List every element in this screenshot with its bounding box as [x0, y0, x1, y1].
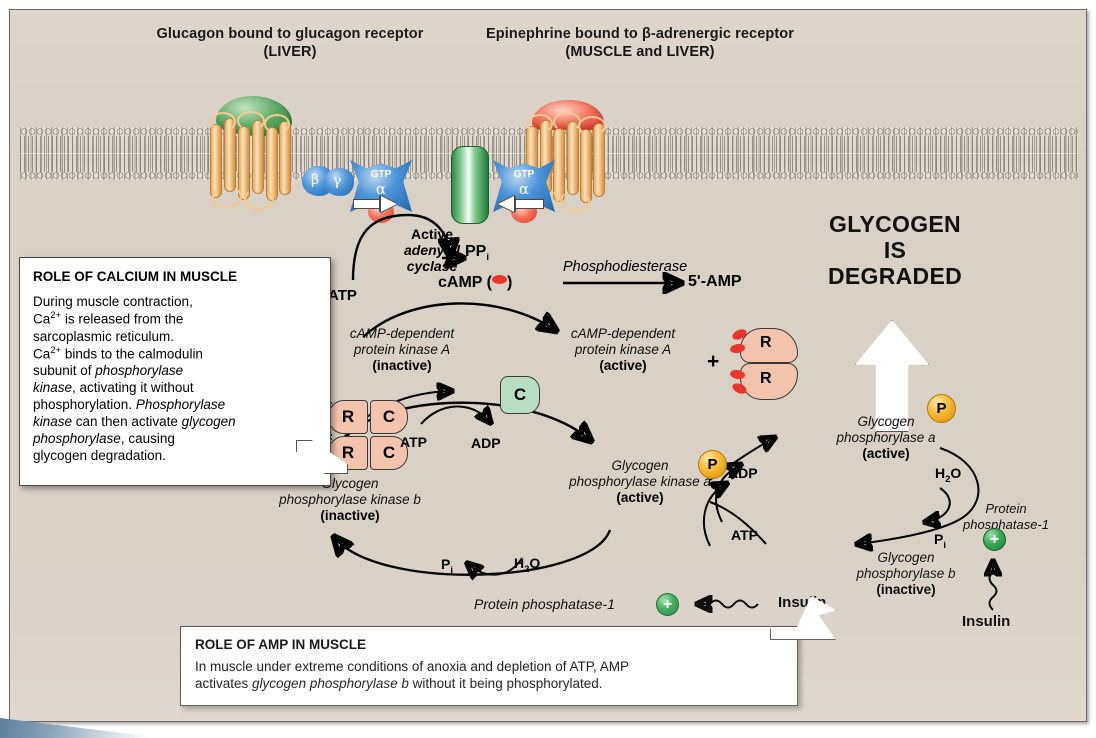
header-epinephrine-line1: Epinephrine bound to β-adrenergic recept… — [430, 26, 850, 44]
kinase-a-line3: (active) — [540, 490, 740, 505]
title-line1: GLYCOGEN — [780, 212, 1010, 238]
pi-subscript: i — [450, 565, 453, 576]
receptor-helix — [567, 121, 579, 195]
glycogen-phosphorylase-a-label: Glycogen phosphorylase a (active) — [796, 414, 976, 461]
g-gamma-label: γ — [333, 173, 341, 189]
adp-label-kinase-cycle: ADP — [471, 435, 501, 451]
protein-phosphatase-1-kinase-cycle: Protein phosphatase-1 — [474, 596, 615, 612]
pka-inactive-line3: (inactive) — [322, 358, 482, 373]
kinase-b-line3: (inactive) — [255, 508, 445, 523]
callout-line: phosphorylase, causing — [33, 430, 318, 447]
h2o-h: H — [514, 555, 524, 571]
receptor-loop — [578, 116, 606, 136]
pp1-line2: phosphatase-1 — [948, 517, 1064, 533]
pka-inactive-label: cAMP-dependent protein kinase A (inactiv… — [322, 326, 482, 373]
callout-calcium: ROLE OF CALCIUM IN MUSCLE During muscle … — [19, 257, 331, 486]
pka-r-subunit: R — [328, 400, 368, 434]
cyclase-label-line1: Active — [390, 226, 474, 242]
receptor-loop — [210, 112, 236, 132]
phosphodiesterase-label: Phosphodiesterase — [563, 259, 687, 275]
callout-line: subunit of phosphorylase — [33, 362, 318, 379]
protein-phosphatase-1-phosphorylase-cycle: Protein phosphatase-1 — [948, 501, 1064, 532]
pka-c-subunit-free: C — [500, 376, 540, 414]
phos-a-line3: (active) — [796, 446, 976, 461]
receptor-loop — [264, 114, 290, 134]
receptor-loop — [560, 190, 590, 212]
insulin-label-phosphorylase-cycle: Insulin — [962, 613, 1010, 630]
camp-text: cAMP ( — [438, 274, 492, 291]
glycogen-phosphorylase-b-label: Glycogen phosphorylase b (inactive) — [816, 550, 996, 597]
amp-label: 5'-AMP — [688, 273, 742, 291]
pka-plus-sign: + — [707, 350, 719, 374]
callout-amp: ROLE OF AMP IN MUSCLE In muscle under ex… — [180, 626, 798, 706]
pka-inactive-line2: protein kinase A — [322, 342, 482, 358]
callout-calcium-body: During muscle contraction, Ca2+ is relea… — [33, 293, 318, 464]
atp-label-cyclase: ATP — [328, 287, 357, 304]
pi-text: P — [934, 531, 943, 547]
gtp-label: GTP — [504, 169, 544, 180]
gtp-label: GTP — [361, 169, 401, 180]
pka-inactive-line1: cAMP-dependent — [322, 326, 482, 342]
callout-amp-pointer — [770, 596, 836, 642]
activation-arrow-left — [353, 196, 399, 212]
phos-b-line1: Glycogen — [816, 550, 996, 566]
title-line3: DEGRADED — [780, 264, 1010, 290]
phosphate-badge-kinase: P — [698, 450, 727, 479]
g-beta-label: β — [311, 172, 319, 188]
callout-amp-title: ROLE OF AMP IN MUSCLE — [195, 637, 783, 652]
callout-calcium-pointer — [296, 440, 366, 496]
ppi-label: PPi — [465, 243, 489, 263]
adenylyl-cyclase-label: Active adenylyl cyclase — [390, 226, 474, 274]
pi-text: P — [441, 556, 450, 572]
callout-line: In muscle under extreme conditions of an… — [195, 658, 783, 675]
activation-arrow-right — [498, 196, 544, 212]
callout-line: kinase can then activate glycogen — [33, 413, 318, 430]
h2o-o: O — [950, 465, 961, 481]
callout-amp-body: In muscle under extreme conditions of an… — [195, 658, 783, 692]
callout-line: During muscle contraction, — [33, 293, 318, 310]
phosphate-badge-phosphorylase: P — [927, 394, 956, 423]
receptor-loop — [527, 114, 553, 134]
header-epinephrine-line2: (MUSCLE and LIVER) — [430, 44, 850, 62]
cyclase-label-line2: adenylyl — [390, 242, 474, 258]
pi-subscript: i — [943, 540, 946, 551]
diagram-panel: Glucagon bound to glucagon receptor (LIV… — [9, 9, 1087, 722]
figure-canvas: Glucagon bound to glucagon receptor (LIV… — [0, 0, 1096, 738]
pka-active-line2: protein kinase A — [538, 342, 708, 358]
pka-active-line3: (active) — [538, 358, 708, 373]
pi-label-phosphorylase-cycle: Pi — [934, 531, 946, 551]
activator-badge-phosphorylase-cycle: + — [983, 528, 1006, 551]
phos-b-line2: phosphorylase b — [816, 566, 996, 582]
receptor-loop — [244, 188, 274, 210]
camp-close: ) — [507, 274, 512, 291]
adp-label-phosphorylase-cycle: ADP — [728, 465, 758, 481]
activator-badge-kinase-cycle: + — [656, 593, 679, 616]
receptor-loop — [212, 186, 242, 208]
phos-a-line2: phosphorylase a — [796, 430, 976, 446]
ppi-subscript: i — [486, 252, 489, 263]
phos-b-line3: (inactive) — [816, 582, 996, 597]
callout-line: sarcoplasmic reticulum. — [33, 328, 318, 345]
h2o-o: O — [529, 555, 540, 571]
callout-line: activates glycogen phosphorylase b witho… — [195, 675, 783, 692]
pka-r-label: R — [760, 334, 772, 352]
header-epinephrine: Epinephrine bound to β-adrenergic recept… — [430, 26, 850, 61]
callout-line: phosphorylation. Phosphorylase — [33, 396, 318, 413]
pka-c-subunit: C — [370, 400, 408, 434]
camp-label: cAMP () — [438, 274, 512, 292]
pka-r-label: R — [760, 370, 772, 388]
atp-label-kinase-cycle: ATP — [400, 434, 427, 450]
pka-active-label: cAMP-dependent protein kinase A (active) — [538, 326, 708, 373]
callout-calcium-title: ROLE OF CALCIUM IN MUSCLE — [33, 269, 318, 284]
callout-line: Ca2+ binds to the calmodulin — [33, 345, 318, 363]
callout-line: glycogen degradation. — [33, 447, 318, 464]
receptor-helix — [553, 128, 565, 202]
receptor-loop — [553, 112, 581, 132]
title-line2: IS — [780, 238, 1010, 264]
receptor-loop — [237, 111, 265, 131]
pka-active-line1: cAMP-dependent — [538, 326, 708, 342]
atp-label-phosphorylase-cycle: ATP — [731, 527, 758, 543]
glycogen-degraded-title: GLYCOGEN IS DEGRADED — [780, 212, 1010, 289]
h2o-h: H — [935, 465, 945, 481]
h2o-label-kinase-cycle: H2O — [514, 555, 540, 575]
ppi-text: PP — [465, 243, 486, 260]
callout-line: Ca2+ is released from the — [33, 310, 318, 328]
glucagon-receptor-7tm — [206, 118, 298, 204]
receptor-helix — [238, 126, 250, 200]
camp-activator-dot-icon — [492, 275, 507, 284]
receptor-helix — [252, 120, 264, 194]
pi-label-kinase-cycle: Pi — [441, 556, 453, 576]
adenylyl-cyclase-enzyme — [451, 146, 489, 224]
h2o-label-phosphorylase-cycle: H2O — [935, 465, 961, 485]
pka-r2-dimer-camp-bound: R R — [732, 328, 802, 400]
callout-line: kinase, activating it without — [33, 379, 318, 396]
cyclase-label-line3: cyclase — [390, 258, 474, 274]
pp1-line1: Protein — [948, 501, 1064, 517]
